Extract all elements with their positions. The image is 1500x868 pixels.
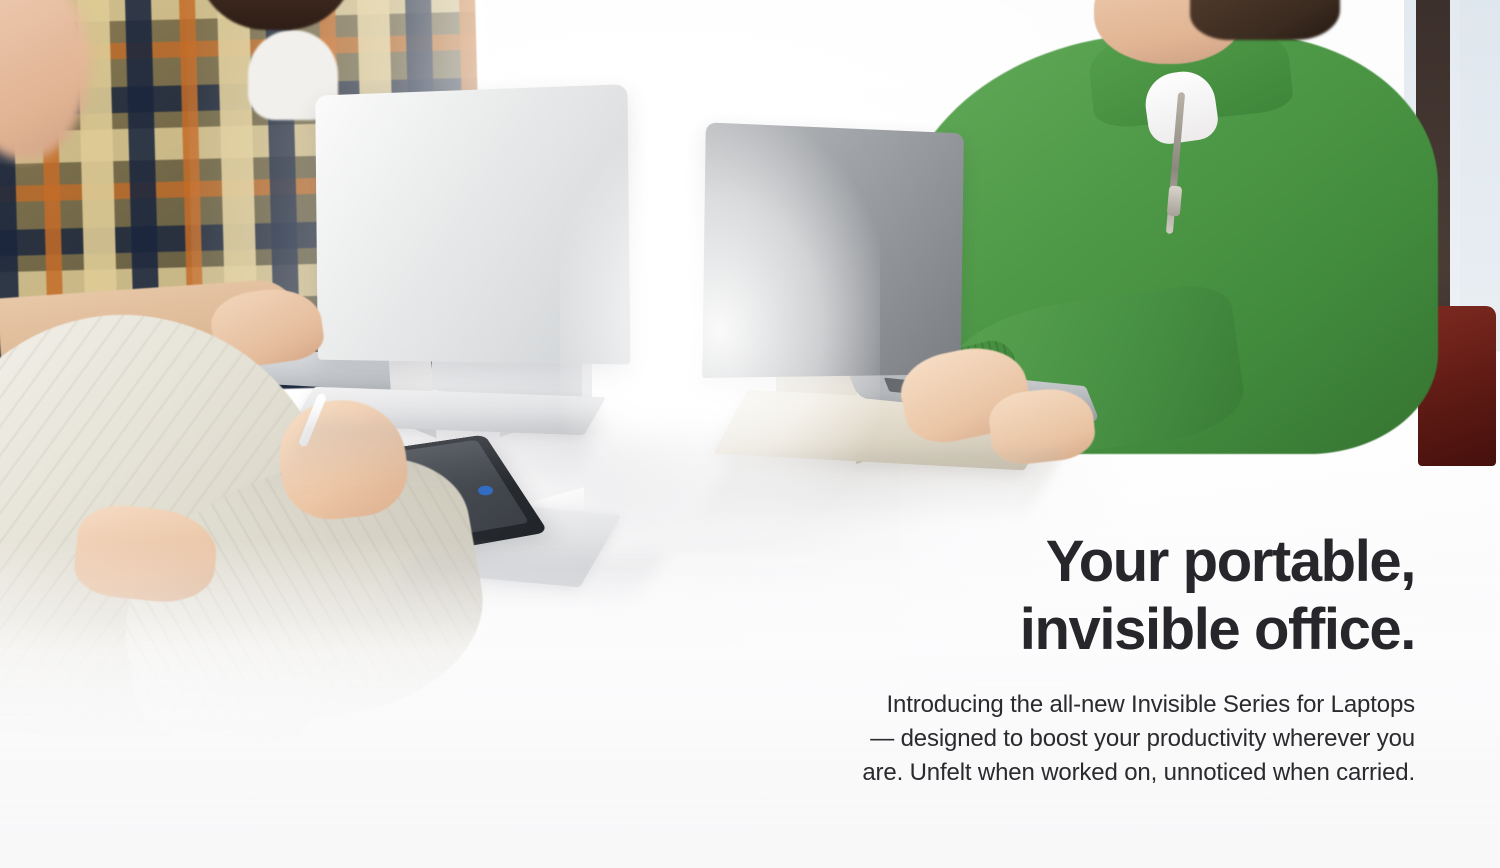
subcopy-line-1: Introducing the all-new Invisible Series… (735, 688, 1415, 722)
macbook-gray-lid (702, 122, 964, 378)
apple-logo-icon (452, 178, 486, 218)
hero-banner: Your portable, invisible office. Introdu… (0, 0, 1500, 868)
subcopy-line-2: — designed to boost your productivity wh… (735, 722, 1415, 756)
headline-line-1: Your portable, (735, 528, 1415, 596)
desk-reflection-right (695, 452, 1063, 524)
hero-copy-block: Your portable, invisible office. Introdu… (735, 528, 1415, 790)
hair (1190, 0, 1340, 40)
zipper-pull (1167, 185, 1183, 216)
page-title: Your portable, invisible office. (735, 528, 1415, 664)
hero-subcopy: Introducing the all-new Invisible Series… (735, 688, 1415, 790)
desk-reflection-left (272, 420, 609, 484)
macbook-silver-lid (315, 84, 630, 364)
subcopy-line-3: are. Unfelt when worked on, unnoticed wh… (735, 756, 1415, 790)
apple-logo-icon (786, 234, 816, 270)
headline-line-2: invisible office. (735, 596, 1415, 664)
desk-reflection-ipad (377, 556, 664, 616)
